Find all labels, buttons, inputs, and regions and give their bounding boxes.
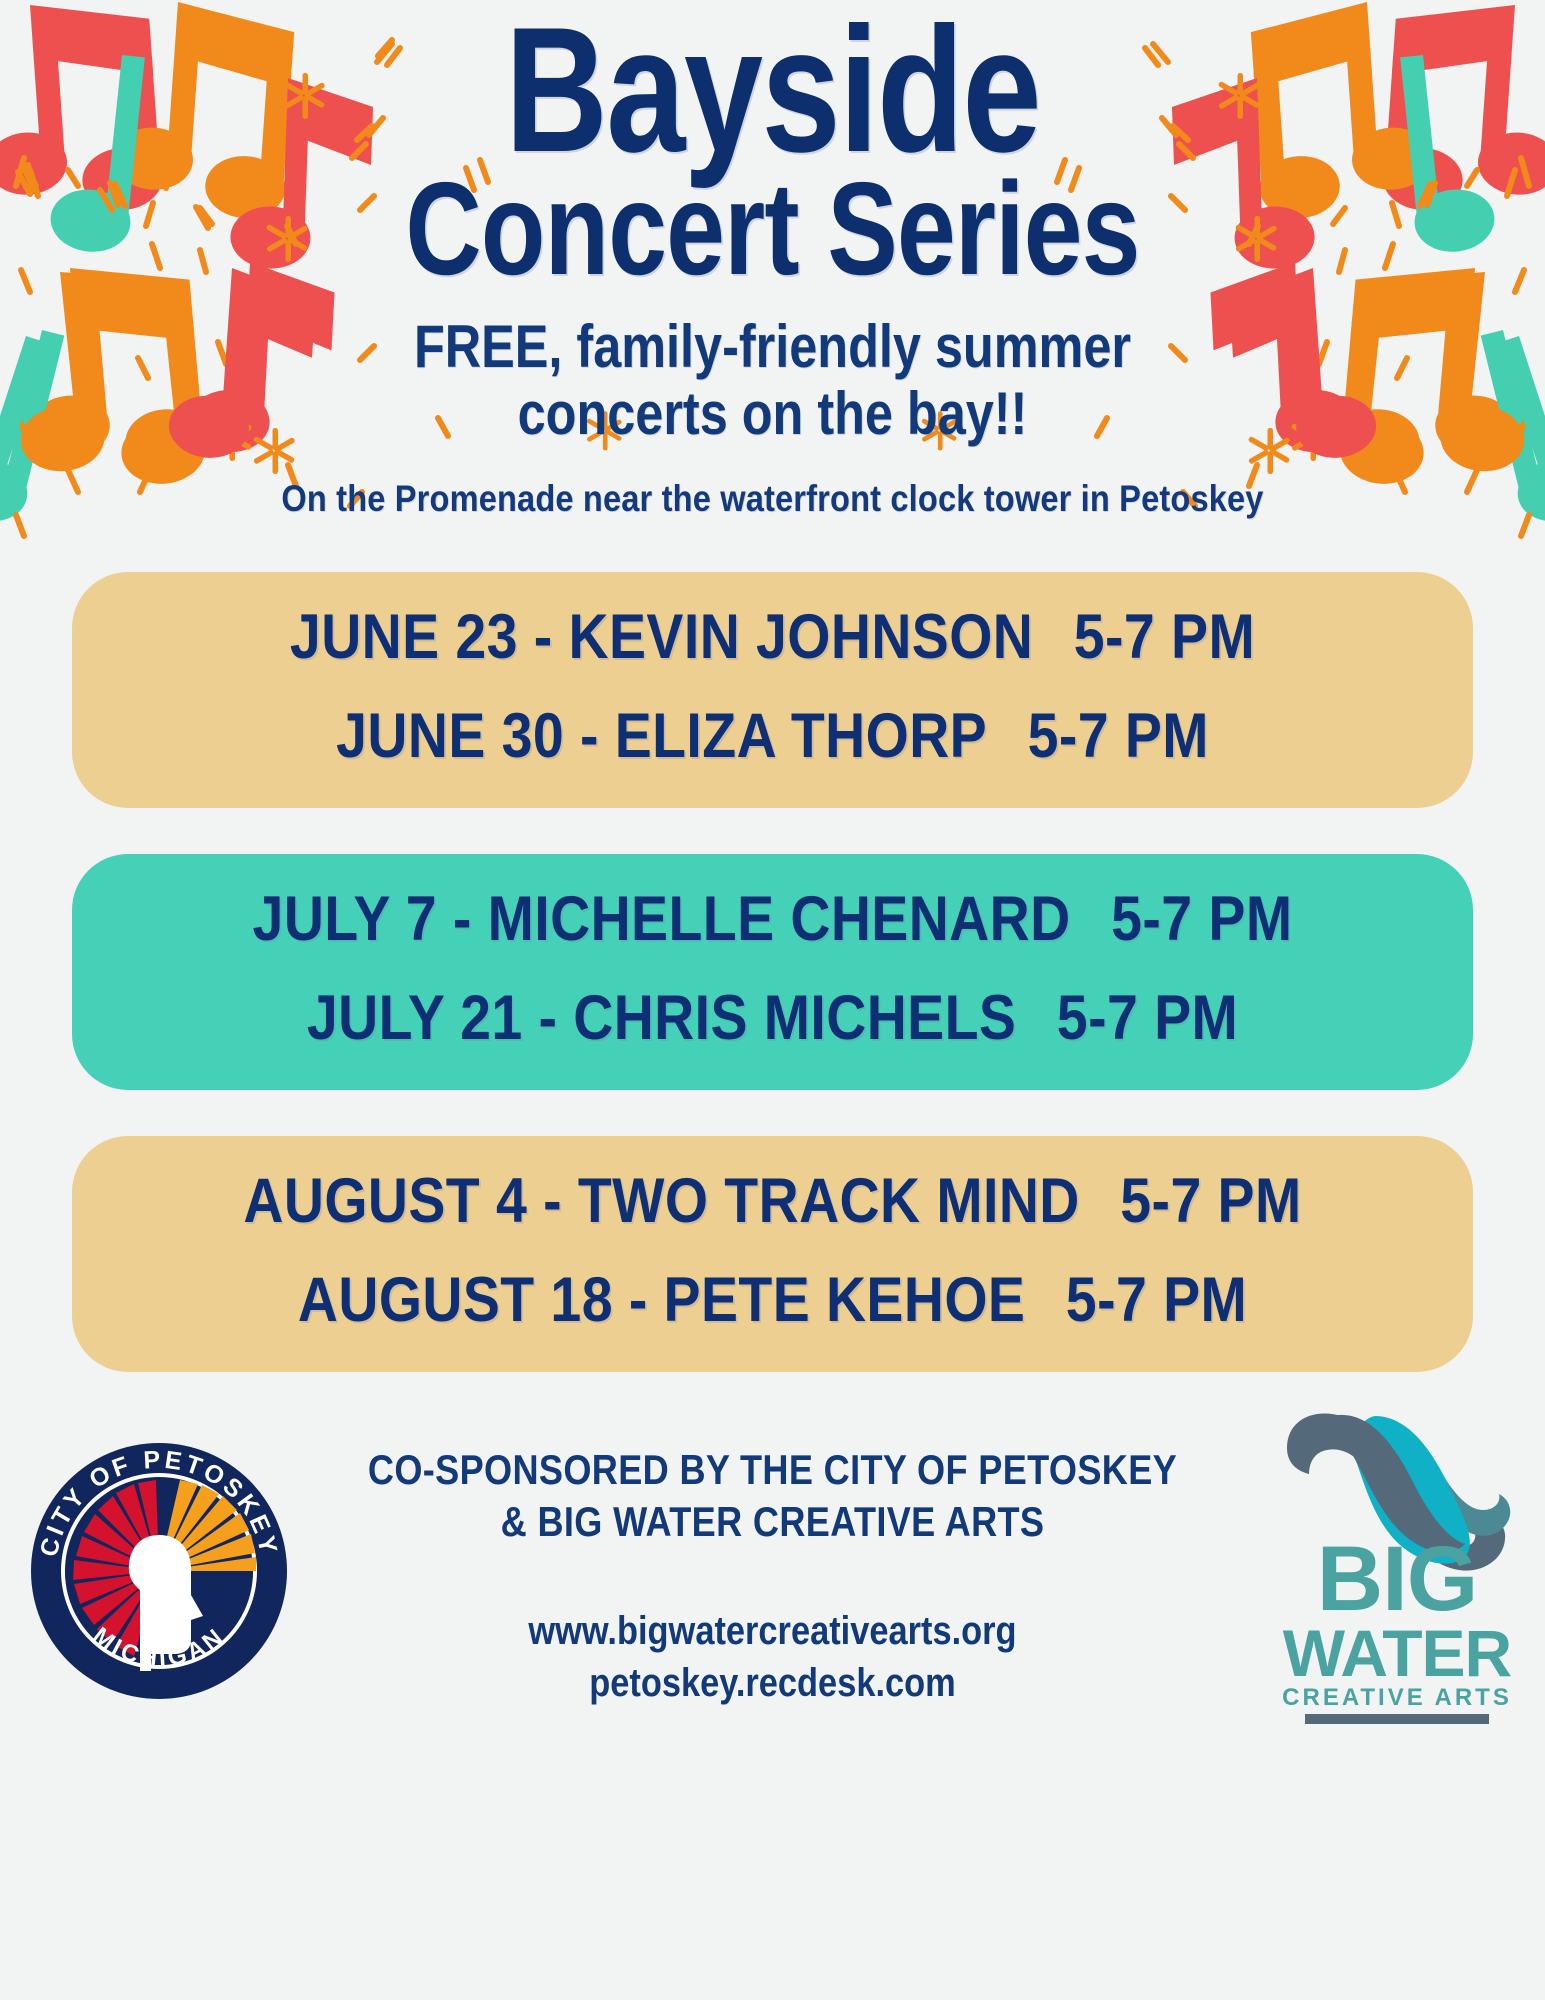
schedule-row: AUGUST 18 - PETE KEHOE5-7 PM <box>156 1269 1389 1332</box>
schedule-band-august: AUGUST 4 - TWO TRACK MIND5-7 PM AUGUST 1… <box>72 1136 1473 1372</box>
registration-link[interactable]: petoskey.recdesk.com <box>589 1661 955 1705</box>
tagline-line-1: FREE, family-friendly summer <box>414 313 1131 380</box>
big-water-creative-arts-logo: BIG WATER CREATIVE ARTS <box>1271 1394 1523 1724</box>
schedule-date-artist: JULY 7 - MICHELLE CHENARD <box>253 884 1071 954</box>
logo-bar <box>1305 1714 1489 1724</box>
sponsor-text: CO-SPONSORED BY THE CITY OF PETOSKEY & B… <box>108 1444 1437 1550</box>
schedule-list: JUNE 23 - KEVIN JOHNSON5-7 PM JUNE 30 - … <box>0 572 1545 1372</box>
logo-word-creative-arts: CREATIVE ARTS <box>1282 1684 1512 1711</box>
schedule-date-artist: AUGUST 4 - TWO TRACK MIND <box>243 1166 1079 1236</box>
schedule-band-june: JUNE 23 - KEVIN JOHNSON5-7 PM JUNE 30 - … <box>72 572 1473 808</box>
page-title: Bayside <box>155 8 1391 172</box>
poster-footer: CITY OF PETOSKEY MICHIGAN CO-SPONSORED B… <box>0 1430 1545 1802</box>
footer-links: www.bigwatercreativearts.org petoskey.re… <box>108 1605 1437 1709</box>
schedule-row: JULY 7 - MICHELLE CHENARD5-7 PM <box>156 888 1389 951</box>
schedule-time: 5-7 PM <box>1066 1265 1247 1335</box>
schedule-time: 5-7 PM <box>1028 701 1209 771</box>
sponsor-line-2: & BIG WATER CREATIVE ARTS <box>501 1498 1045 1545</box>
location-text: On the Promenade near the waterfront clo… <box>93 478 1453 520</box>
schedule-date-artist: JUNE 30 - ELIZA THORP <box>336 701 987 771</box>
schedule-row: JUNE 23 - KEVIN JOHNSON5-7 PM <box>156 606 1389 669</box>
logo-word-big: BIG <box>1317 1528 1478 1630</box>
schedule-time: 5-7 PM <box>1074 602 1255 672</box>
schedule-date-artist: JUNE 23 - KEVIN JOHNSON <box>290 602 1033 672</box>
sponsor-line-1: CO-SPONSORED BY THE CITY OF PETOSKEY <box>368 1446 1177 1493</box>
schedule-row: AUGUST 4 - TWO TRACK MIND5-7 PM <box>156 1170 1389 1233</box>
schedule-time: 5-7 PM <box>1111 884 1292 954</box>
tagline-line-2: concerts on the bay!! <box>518 380 1028 447</box>
page-subtitle: Concert Series <box>155 166 1391 291</box>
schedule-date-artist: JULY 21 - CHRIS MICHELS <box>307 983 1016 1053</box>
logo-word-water: WATER <box>1283 1616 1512 1690</box>
tagline: FREE, family-friendly summer concerts on… <box>124 313 1422 447</box>
schedule-date-artist: AUGUST 18 - PETE KEHOE <box>298 1265 1025 1335</box>
schedule-row: JULY 21 - CHRIS MICHELS5-7 PM <box>156 987 1389 1050</box>
concert-poster: Bayside Concert Series FREE, family-frie… <box>0 0 1545 2000</box>
schedule-time: 5-7 PM <box>1057 983 1238 1053</box>
schedule-time: 5-7 PM <box>1120 1166 1301 1236</box>
website-link[interactable]: www.bigwatercreativearts.org <box>528 1609 1016 1653</box>
poster-header: Bayside Concert Series FREE, family-frie… <box>0 0 1545 520</box>
schedule-band-july: JULY 7 - MICHELLE CHENARD5-7 PM JULY 21 … <box>72 854 1473 1090</box>
schedule-row: JUNE 30 - ELIZA THORP5-7 PM <box>156 705 1389 768</box>
